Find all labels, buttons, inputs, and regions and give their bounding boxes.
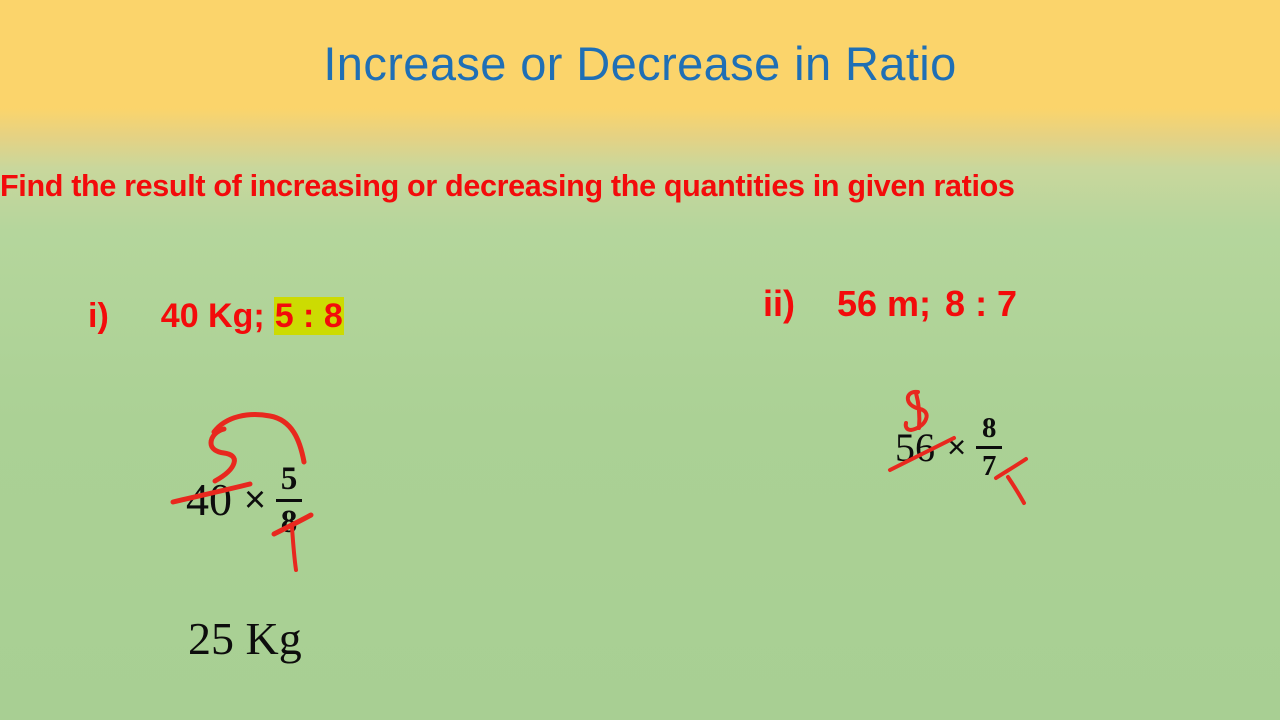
answer-1: 25 Kg	[188, 612, 302, 665]
work-2-denominator: 7	[979, 452, 999, 481]
multiplication-sign-icon: ×	[244, 481, 266, 519]
page-title: Increase or Decrease in Ratio	[0, 38, 1280, 90]
instruction-text: Find the result of increasing or decreas…	[0, 168, 1261, 204]
work-1-fraction: 5 8	[276, 462, 302, 539]
problem-quantity-1: 40 Kg;	[161, 297, 265, 336]
problem-quantity-2: 56 m;	[837, 283, 931, 325]
work-2-fraction: 8 7	[976, 414, 1002, 482]
tick-below-7	[1008, 477, 1024, 503]
problem-label-2: ii)	[763, 283, 795, 325]
problem-ratio-2: 8 : 7	[945, 283, 1017, 325]
problem-statement-2: ii)56 m;8 : 7	[763, 283, 1017, 325]
working-expression-1: 40 × 5 8	[186, 462, 302, 539]
fraction-bar-icon	[276, 499, 302, 502]
work-2-numerator: 8	[979, 414, 999, 443]
problem-statement-1: i)40 Kg;5 : 8	[88, 297, 344, 336]
cancellation-arc-1	[214, 415, 304, 462]
work-2-whole: 56	[895, 428, 935, 468]
fraction-bar-icon	[976, 446, 1002, 449]
work-1-denominator: 8	[278, 505, 301, 539]
slide-canvas: Increase or Decrease in Ratio Find the r…	[0, 0, 1280, 720]
working-expression-2: 56 × 8 7	[895, 414, 1002, 482]
work-1-whole: 40	[186, 477, 232, 523]
work-1-numerator: 5	[278, 462, 301, 496]
multiplication-sign-icon: ×	[947, 431, 966, 464]
problem-ratio-1: 5 : 8	[274, 297, 344, 335]
problem-label-1: i)	[88, 297, 109, 336]
